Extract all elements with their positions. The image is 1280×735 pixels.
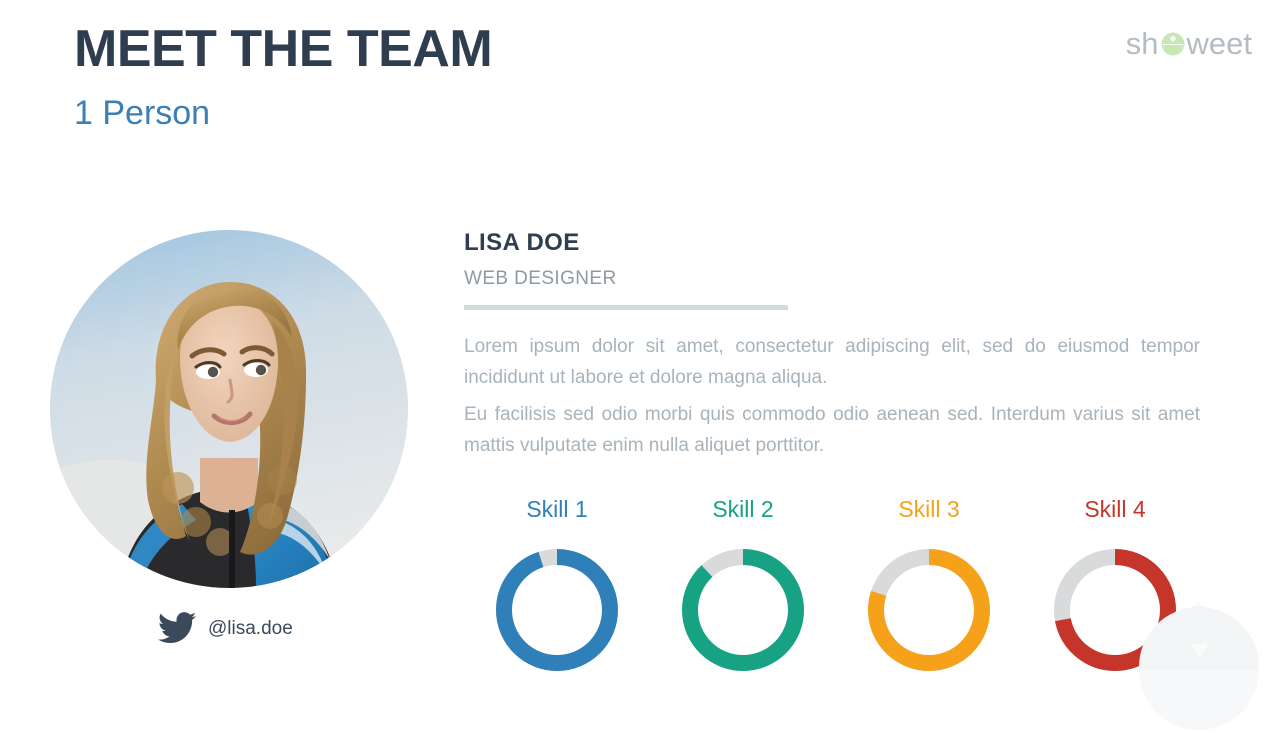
divider: [464, 305, 788, 310]
bio-paragraph-2: Eu facilisis sed odio morbi quis commodo…: [464, 400, 1200, 462]
skills-group: Skill 1Skill 2Skill 3Skill 4: [464, 498, 1208, 671]
social-handle-group[interactable]: @lisa.doe: [158, 612, 293, 644]
person-role: WEB DESIGNER: [464, 268, 617, 290]
skill-3: Skill 3: [836, 498, 1022, 671]
twitter-icon: [158, 612, 196, 644]
page-subtitle: 1 Person: [74, 93, 210, 134]
showeet-circle-icon: [1160, 31, 1186, 57]
person-name: LISA DOE: [464, 229, 580, 257]
avatar: [50, 230, 408, 588]
donut-chart: [682, 549, 804, 671]
skill-label: Skill 1: [526, 498, 587, 521]
logo-text-before: sh: [1126, 26, 1159, 62]
donut-value: [504, 557, 610, 663]
donut-chart: [1054, 549, 1176, 671]
skill-1: Skill 1: [464, 498, 650, 671]
portrait-photo: [50, 230, 408, 588]
skill-label: Skill 3: [898, 498, 959, 521]
skill-4: Skill 4: [1022, 498, 1208, 671]
social-handle-text: @lisa.doe: [208, 619, 293, 638]
skill-label: Skill 4: [1084, 498, 1145, 521]
logo-text-after: weet: [1187, 26, 1252, 62]
donut-chart: [496, 549, 618, 671]
showeet-logo: sh weet: [1126, 26, 1252, 62]
donut-value: [690, 557, 796, 663]
skill-2: Skill 2: [650, 498, 836, 671]
skill-label: Skill 2: [712, 498, 773, 521]
bio-paragraph-1: Lorem ipsum dolor sit amet, consectetur …: [464, 332, 1200, 394]
page-title: MEET THE TEAM: [74, 20, 492, 80]
donut-chart: [868, 549, 990, 671]
